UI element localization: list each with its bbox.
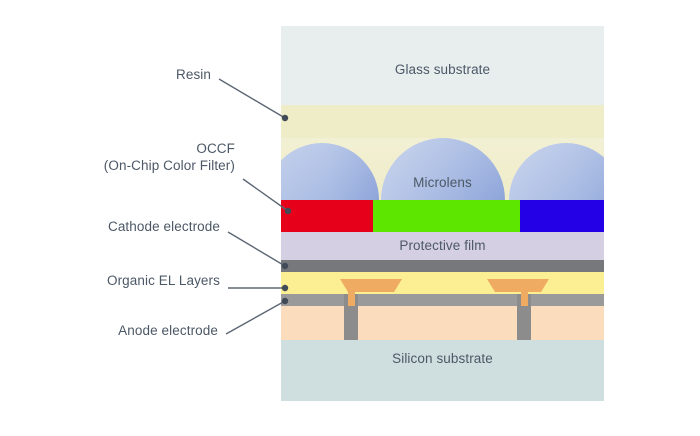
red-filter bbox=[281, 200, 373, 232]
layer-silicon-substrate bbox=[281, 340, 604, 401]
callout-leaders bbox=[219, 79, 288, 334]
layer-glass-substrate bbox=[281, 26, 604, 105]
callout-label-resin: Resin bbox=[176, 66, 211, 83]
microlens-group bbox=[265, 138, 623, 200]
callout-label-anode-electrode: Anode electrode bbox=[118, 322, 218, 339]
anode-via-right bbox=[521, 283, 528, 306]
leader-dot-anode-electrode bbox=[282, 298, 288, 304]
callout-label-cathode-electrode: Cathode electrode bbox=[108, 218, 220, 235]
leader-line-resin bbox=[219, 79, 285, 118]
leader-dot-resin bbox=[282, 115, 288, 121]
layer-anode-electrode bbox=[281, 294, 604, 306]
layer-organic-el bbox=[281, 272, 604, 294]
leader-line-anode-electrode bbox=[226, 301, 285, 334]
anode-pad-right bbox=[487, 279, 549, 292]
color-filter-group bbox=[281, 200, 604, 232]
leader-line-cathode-electrode bbox=[228, 232, 285, 266]
green-filter bbox=[373, 200, 520, 232]
anode-via-left bbox=[348, 283, 355, 306]
layer-protective-film bbox=[281, 232, 604, 260]
leader-dot-organic-el-layers bbox=[282, 285, 288, 291]
diagram-canvas: Resin OCCF (On-Chip Color Filter) Cathod… bbox=[0, 0, 700, 431]
layer-cathode-electrode bbox=[281, 260, 604, 272]
layer-wiring bbox=[281, 306, 604, 340]
callout-label-organic-el-layers: Organic EL Layers bbox=[107, 272, 220, 289]
microlens-band-shade bbox=[281, 138, 604, 200]
callout-label-occf: OCCF (On-Chip Color Filter) bbox=[104, 140, 235, 174]
blue-filter bbox=[520, 200, 604, 232]
oled-cross-section-diagram bbox=[0, 0, 700, 431]
leader-dot-cathode-electrode bbox=[282, 263, 288, 269]
leader-dot-occf bbox=[285, 208, 291, 214]
